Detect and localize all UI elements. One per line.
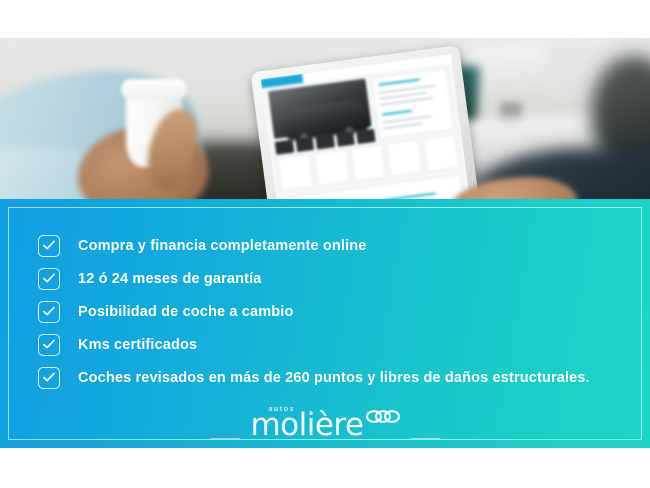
tablet-thumbnail (295, 137, 314, 152)
logo-rule-left (210, 438, 240, 439)
tablet-sidebar-line (382, 115, 432, 124)
check-square-icon (38, 268, 60, 290)
check-square-icon (38, 367, 60, 389)
tablet-thumbnail (275, 140, 294, 155)
photo-tablet (250, 45, 483, 199)
top-white-margin (0, 0, 650, 38)
brand-logo: autos molière (0, 394, 650, 442)
feature-item: 12 ó 24 meses de garantía (38, 262, 624, 295)
logo-lockup: autos molière (250, 408, 399, 442)
tablet-sidebar-line (378, 84, 436, 94)
feature-item: Compra y financia completamente online (38, 229, 624, 262)
tablet-body-accent (384, 192, 436, 199)
tablet-thumbnail (336, 132, 355, 147)
photo-coffee-cup-lid (121, 79, 187, 99)
tablet-thumbnail (356, 129, 375, 144)
tablet-screen (260, 54, 473, 199)
tablet-screen-content (260, 54, 473, 199)
tablet-feature-tile (313, 149, 350, 187)
feature-item: Kms certificados (38, 328, 624, 361)
tablet-sidebar-accent (382, 110, 412, 116)
check-square-icon (38, 334, 60, 356)
tablet-feature-tile (386, 139, 423, 177)
feature-label: Coches revisados en más de 260 puntos y … (78, 370, 590, 386)
feature-label: Posibilidad de coche a cambio (78, 304, 293, 320)
logo-wordmark: molière (250, 408, 363, 442)
logo-rule-right (410, 438, 440, 439)
feature-item: Coches revisados en más de 260 puntos y … (38, 361, 624, 394)
tablet-feature-tile (350, 144, 387, 182)
promo-banner: Compra y financia completamente online 1… (0, 0, 650, 488)
tablet-feature-tile (423, 134, 460, 172)
tablet-sidebar-title (378, 78, 420, 85)
tablet-car-photo (268, 79, 371, 139)
chain-links-icon (366, 410, 400, 428)
tablet-listing-sidebar (371, 68, 454, 139)
logo-tagline: autos (268, 406, 295, 413)
feature-label: 12 ó 24 meses de garantía (78, 271, 262, 287)
hero-photo (0, 38, 650, 199)
feature-list: Compra y financia completamente online 1… (38, 229, 624, 394)
feature-item: Posibilidad de coche a cambio (38, 295, 624, 328)
tablet-sidebar-line (383, 122, 423, 129)
features-panel: Compra y financia completamente online 1… (0, 199, 650, 448)
check-square-icon (38, 301, 60, 323)
tablet-thumbnail (316, 134, 335, 149)
tablet-feature-tile (277, 154, 314, 192)
bottom-white-margin (0, 448, 650, 488)
check-square-icon (38, 235, 60, 257)
feature-label: Kms certificados (78, 337, 197, 353)
feature-label: Compra y financia completamente online (78, 238, 367, 254)
